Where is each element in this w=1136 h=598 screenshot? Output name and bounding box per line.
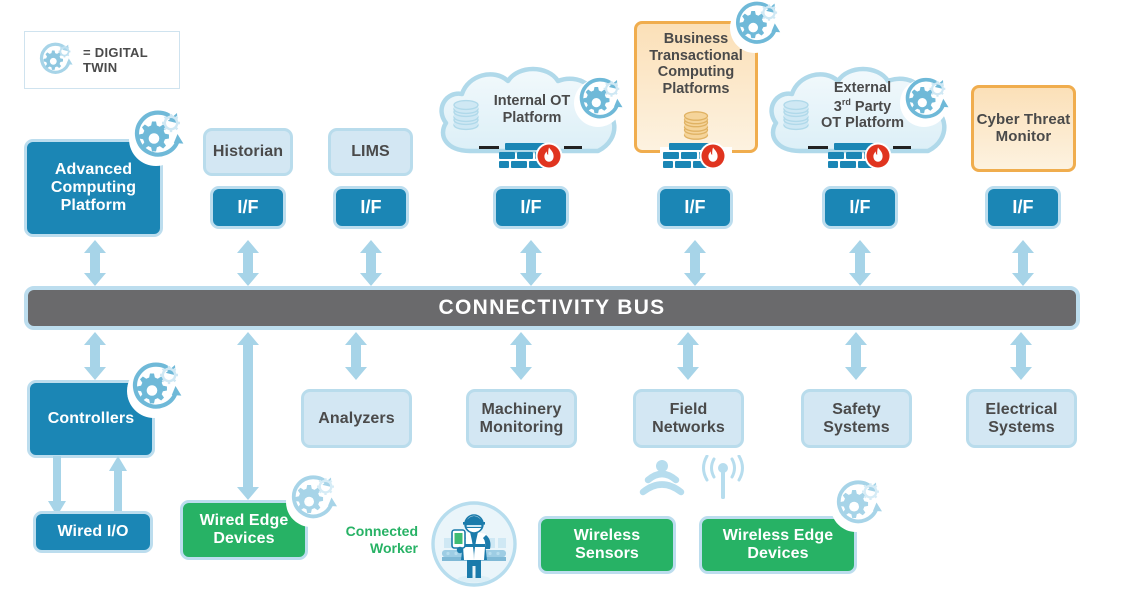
node-label: Machinery Monitoring [469,401,574,437]
legend-digital-twin: = DIGITAL TWIN [24,31,180,89]
arrow-if-business-to-bus [682,240,708,286]
arrow-if-cyber-to-bus [1010,240,1036,286]
digital-twin-badge-external-third-party [898,74,956,129]
if-label: I/F [1012,197,1033,217]
node-cyber-threat-monitor[interactable]: Cyber Threat Monitor [971,85,1076,172]
cloud-label-text: Internal OT Platform [494,93,571,126]
if-box-historian[interactable]: I/F [210,186,286,229]
node-analyzers[interactable]: Analyzers [301,389,412,448]
if-box-external-third-party[interactable]: I/F [822,186,898,229]
arrow-wired-io-to-controllers [108,456,128,516]
if-label: I/F [520,197,541,217]
arrow-bus-to-safety-systems [843,332,869,380]
digital-twin-badge-internal-ot-platform [572,74,630,129]
antenna-icon [697,455,749,501]
cloud-bottom-line-internal-2 [564,146,582,149]
node-label: Cyber Threat Monitor [974,112,1073,146]
if-label: I/F [237,197,258,217]
database-icon-business-transactional [681,110,711,142]
arrow-if-lims-to-bus [358,240,384,286]
node-label: Historian [213,143,283,161]
node-lims[interactable]: LIMS [328,128,413,176]
node-label: Advanced Computing Platform [27,161,160,215]
wireless-sensor-icon [637,458,687,500]
arrow-if-external-to-bus [847,240,873,286]
digital-twin-badge-business-transactional [728,0,788,55]
arrow-bus-to-electrical-systems [1008,332,1034,380]
node-safety-systems[interactable]: Safety Systems [801,389,912,448]
node-label: Safety Systems [804,401,909,437]
cloud-bottom-line-internal [479,146,499,149]
arrow-acp-to-bus [82,240,108,286]
node-machinery-monitoring[interactable]: Machinery Monitoring [466,389,577,448]
arrow-controllers-to-wired-io [47,456,67,516]
node-field-networks[interactable]: Field Networks [633,389,744,448]
node-label: Controllers [48,410,134,428]
node-wireless-sensors[interactable]: Wireless Sensors [538,516,676,574]
if-label: I/F [360,197,381,217]
database-icon-external-third-party [781,99,811,133]
digital-twin-badge-advanced-computing-platform [126,106,192,168]
node-label: Wired I/O [58,523,129,541]
node-label: Field Networks [636,401,741,437]
firewall-icon-internal-ot-platform [493,139,569,173]
arrow-if-historian-to-bus [235,240,261,286]
firewall-icon-business-transactional [657,139,733,173]
digital-twin-gears-icon [35,40,77,80]
if-box-internal-ot-platform[interactable]: I/F [493,186,569,229]
connected-worker-label: Connected Worker [320,523,418,557]
cloud-bottom-line-external-2 [893,146,911,149]
arrow-bus-to-wired-edge-devices [235,332,261,500]
node-label: LIMS [351,143,390,161]
cloud-bottom-line-external [808,146,828,149]
node-label: Electrical Systems [969,401,1074,437]
node-electrical-systems[interactable]: Electrical Systems [966,389,1077,448]
digital-twin-badge-controllers [124,358,190,420]
if-label: I/F [849,197,870,217]
node-historian[interactable]: Historian [203,128,293,176]
if-box-lims[interactable]: I/F [333,186,409,229]
if-box-business-transactional[interactable]: I/F [657,186,733,229]
digital-twin-badge-wired-edge-devices [283,471,345,529]
firewall-icon-external-third-party [822,139,898,173]
arrow-bus-to-analyzers [343,332,369,380]
node-label: Analyzers [318,410,395,428]
digital-twin-badge-wireless-edge-devices [828,476,890,534]
connected-worker-icon [430,500,518,588]
connected-worker-label-line2: Worker [320,540,418,557]
node-wired-io[interactable]: Wired I/O [33,511,153,553]
architecture-diagram: = DIGITAL TWIN Advanced Computing Platfo… [0,0,1136,598]
connectivity-bus-label: CONNECTIVITY BUS [439,296,666,320]
connectivity-bus[interactable]: CONNECTIVITY BUS [24,286,1080,330]
node-label: Wireless Sensors [541,527,673,563]
if-box-cyber-threat-monitor[interactable]: I/F [985,186,1061,229]
legend-label: = DIGITAL TWIN [83,45,169,75]
database-icon-internal-ot-platform [451,99,481,133]
arrow-bus-to-field-networks [675,332,701,380]
arrow-if-internal-to-bus [518,240,544,286]
if-label: I/F [684,197,705,217]
connected-worker-label-line1: Connected [320,523,418,540]
arrow-bus-to-machinery-monitoring [508,332,534,380]
arrow-bus-to-controllers [82,332,108,380]
